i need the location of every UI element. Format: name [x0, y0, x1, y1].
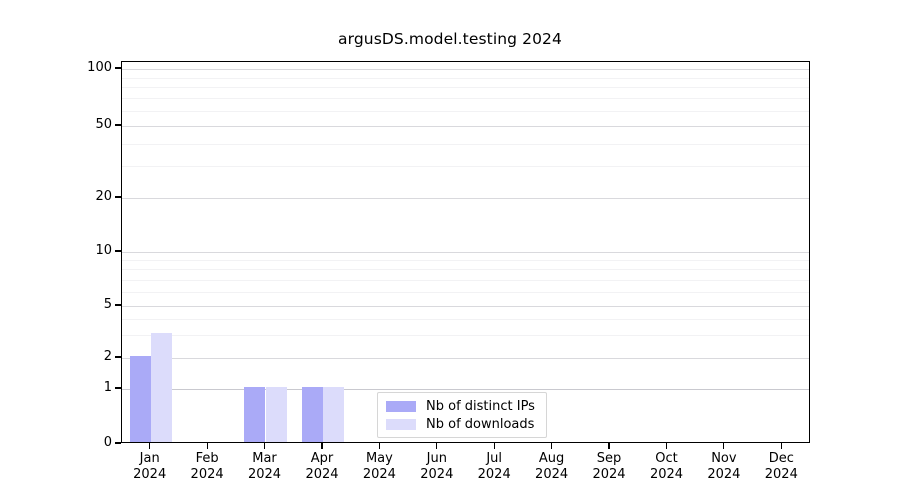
gridline-major — [122, 198, 809, 199]
x-axis-tick-mark — [723, 443, 724, 449]
gridline-minor — [122, 319, 809, 320]
x-axis-tick-mark — [781, 443, 782, 449]
y-axis-tick-mark — [115, 250, 121, 251]
legend-item-label: Nb of downloads — [426, 417, 534, 432]
x-axis-tick-mark — [379, 443, 380, 449]
legend-item-label: Nb of distinct IPs — [426, 399, 535, 414]
gridline-minor — [122, 335, 809, 336]
chart-title: argusDS.model.testing 2024 — [0, 30, 900, 48]
bar-distinct-ips[interactable] — [302, 387, 323, 442]
bar-distinct-ips[interactable] — [130, 356, 151, 442]
x-axis-tick-mark — [436, 443, 437, 449]
y-axis-tick-mark — [115, 196, 121, 197]
legend-color-swatch — [386, 419, 416, 430]
bar-downloads[interactable] — [266, 387, 287, 442]
y-axis-tick-mark — [115, 67, 121, 68]
y-axis-tick-label: 0 — [12, 435, 112, 450]
chart-legend[interactable]: Nb of distinct IPsNb of downloads — [377, 392, 547, 438]
bar-downloads[interactable] — [151, 333, 172, 442]
legend-item[interactable]: Nb of distinct IPs — [386, 398, 538, 415]
x-axis-tick-mark — [494, 443, 495, 449]
gridline-minor — [122, 98, 809, 99]
gridline-minor — [122, 111, 809, 112]
x-axis-tick-mark — [608, 443, 609, 449]
x-axis-tick-mark — [264, 443, 265, 449]
gridline-major — [122, 306, 809, 307]
gridline-major — [122, 69, 809, 70]
gridline-baseline-one — [122, 389, 809, 390]
x-axis-tick-mark — [207, 443, 208, 449]
y-axis-tick-label: 50 — [12, 117, 112, 132]
gridline-major — [122, 252, 809, 253]
y-axis-tick-label: 2 — [12, 349, 112, 364]
gridline-minor — [122, 292, 809, 293]
y-axis-tick-mark — [115, 442, 121, 443]
gridline-minor — [122, 280, 809, 281]
x-axis-tick-mark — [321, 443, 322, 449]
y-axis-tick-mark — [115, 304, 121, 305]
y-axis-tick-label: 5 — [12, 297, 112, 312]
x-axis-tick-mark — [149, 443, 150, 449]
y-axis-labels: 1005020105210 — [0, 0, 112, 500]
x-axis-tick-mark — [551, 443, 552, 449]
x-axis-label-month: Dec — [741, 451, 821, 467]
chart-container: argusDS.model.testing 2024 1005020105210… — [0, 0, 900, 500]
gridline-minor — [122, 166, 809, 167]
y-axis-tick-mark — [115, 387, 121, 388]
gridline-minor — [122, 144, 809, 145]
x-axis-tick-mark — [666, 443, 667, 449]
y-axis-tick-label: 1 — [12, 380, 112, 395]
legend-item[interactable]: Nb of downloads — [386, 416, 538, 433]
y-axis-tick-label: 10 — [12, 243, 112, 258]
y-axis-tick-mark — [115, 124, 121, 125]
x-axis-label-year: 2024 — [741, 467, 821, 483]
bar-downloads[interactable] — [323, 387, 344, 442]
gridline-major — [122, 126, 809, 127]
gridline-minor — [122, 87, 809, 88]
gridline-minor — [122, 269, 809, 270]
y-axis-tick-label: 20 — [12, 189, 112, 204]
legend-color-swatch — [386, 401, 416, 412]
x-axis-tick-label: Dec2024 — [741, 451, 821, 483]
gridline-minor — [122, 78, 809, 79]
y-axis-tick-mark — [115, 356, 121, 357]
bar-distinct-ips[interactable] — [244, 387, 265, 442]
gridline-major — [122, 358, 809, 359]
gridline-minor — [122, 260, 809, 261]
y-axis-tick-label: 100 — [12, 60, 112, 75]
plot-area — [121, 61, 810, 443]
